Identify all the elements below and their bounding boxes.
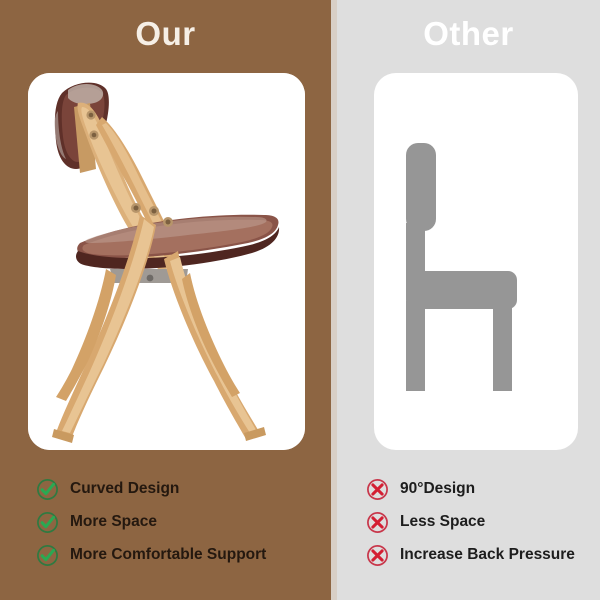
feature-list-our: Curved Design More Space More Comfortabl… [0, 478, 266, 566]
list-item: 90°Design [366, 478, 575, 500]
feature-list-other: 90°Design Less Space Increase Back Press… [337, 478, 575, 566]
red-cross-circle-icon [366, 478, 389, 501]
product-image-card-other [374, 73, 578, 450]
list-item: More Comfortable Support [36, 544, 266, 566]
green-check-circle-icon [36, 544, 59, 567]
wooden-folding-chair-photo [28, 73, 305, 450]
list-item: Increase Back Pressure [366, 544, 575, 566]
list-item-label: Increase Back Pressure [400, 547, 575, 563]
list-item: Less Space [366, 511, 575, 533]
list-item-label: Curved Design [70, 481, 179, 497]
red-cross-circle-icon [366, 544, 389, 567]
page-title-other: Other [337, 17, 600, 50]
comparison-layout: Our [0, 0, 600, 600]
list-item-label: More Comfortable Support [70, 547, 266, 563]
panel-our: Our [0, 0, 331, 600]
green-check-circle-icon [36, 511, 59, 534]
product-image-card-our [28, 73, 305, 450]
list-item: Curved Design [36, 478, 266, 500]
list-item-label: 90°Design [400, 481, 475, 497]
green-check-circle-icon [36, 478, 59, 501]
list-item: More Space [36, 511, 266, 533]
panel-other: Other [337, 0, 600, 600]
gray-chair-silhouette-icon [374, 73, 578, 450]
list-item-label: Less Space [400, 514, 485, 530]
page-title-our: Our [0, 17, 331, 50]
list-item-label: More Space [70, 514, 157, 530]
red-cross-circle-icon [366, 511, 389, 534]
